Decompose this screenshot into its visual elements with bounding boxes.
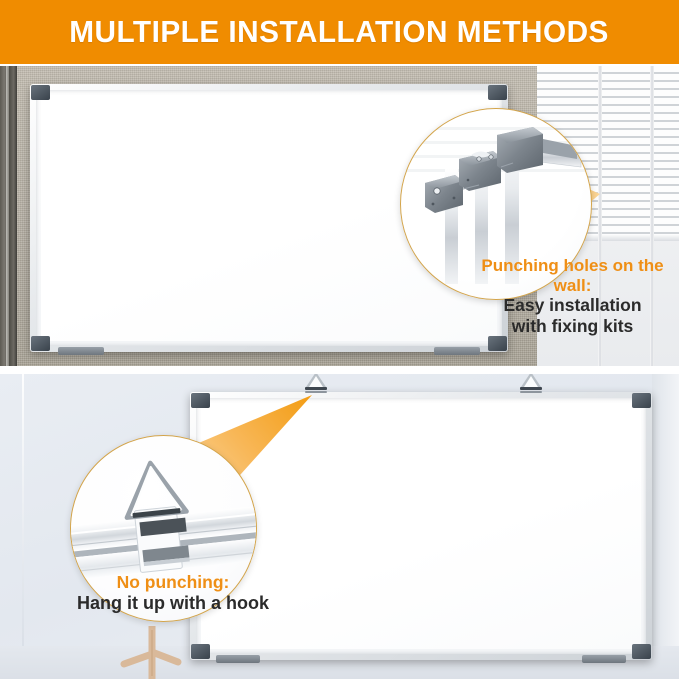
caption-highlight: No punching: <box>8 572 338 593</box>
header-banner: MULTIPLE INSTALLATION METHODS <box>0 0 679 64</box>
caption-no-punching: No punching: Hang it up with a hook <box>8 572 338 614</box>
panel-divider <box>0 366 679 374</box>
page-title: MULTIPLE INSTALLATION METHODS <box>70 14 610 50</box>
caption-body-line1: Easy installation <box>470 295 675 315</box>
caption-punching: Punching holes on the wall: Easy install… <box>470 256 675 336</box>
door-edge-highlight <box>6 66 9 366</box>
pen-tray-left <box>58 347 104 355</box>
caption-body-line2: with fixing kits <box>470 316 675 336</box>
caption-body-line1: Hang it up with a hook <box>8 593 338 614</box>
caption-highlight: Punching holes on the wall: <box>470 256 675 295</box>
frame-corner-top-left <box>31 85 50 100</box>
frame-corner-bottom-left <box>31 336 50 351</box>
frame-corner-bottom-right <box>488 336 507 351</box>
pen-tray-right <box>434 347 480 355</box>
product-infographic: MULTIPLE INSTALLATION METHODS <box>0 0 679 679</box>
frame-corner-top-right <box>488 85 507 100</box>
